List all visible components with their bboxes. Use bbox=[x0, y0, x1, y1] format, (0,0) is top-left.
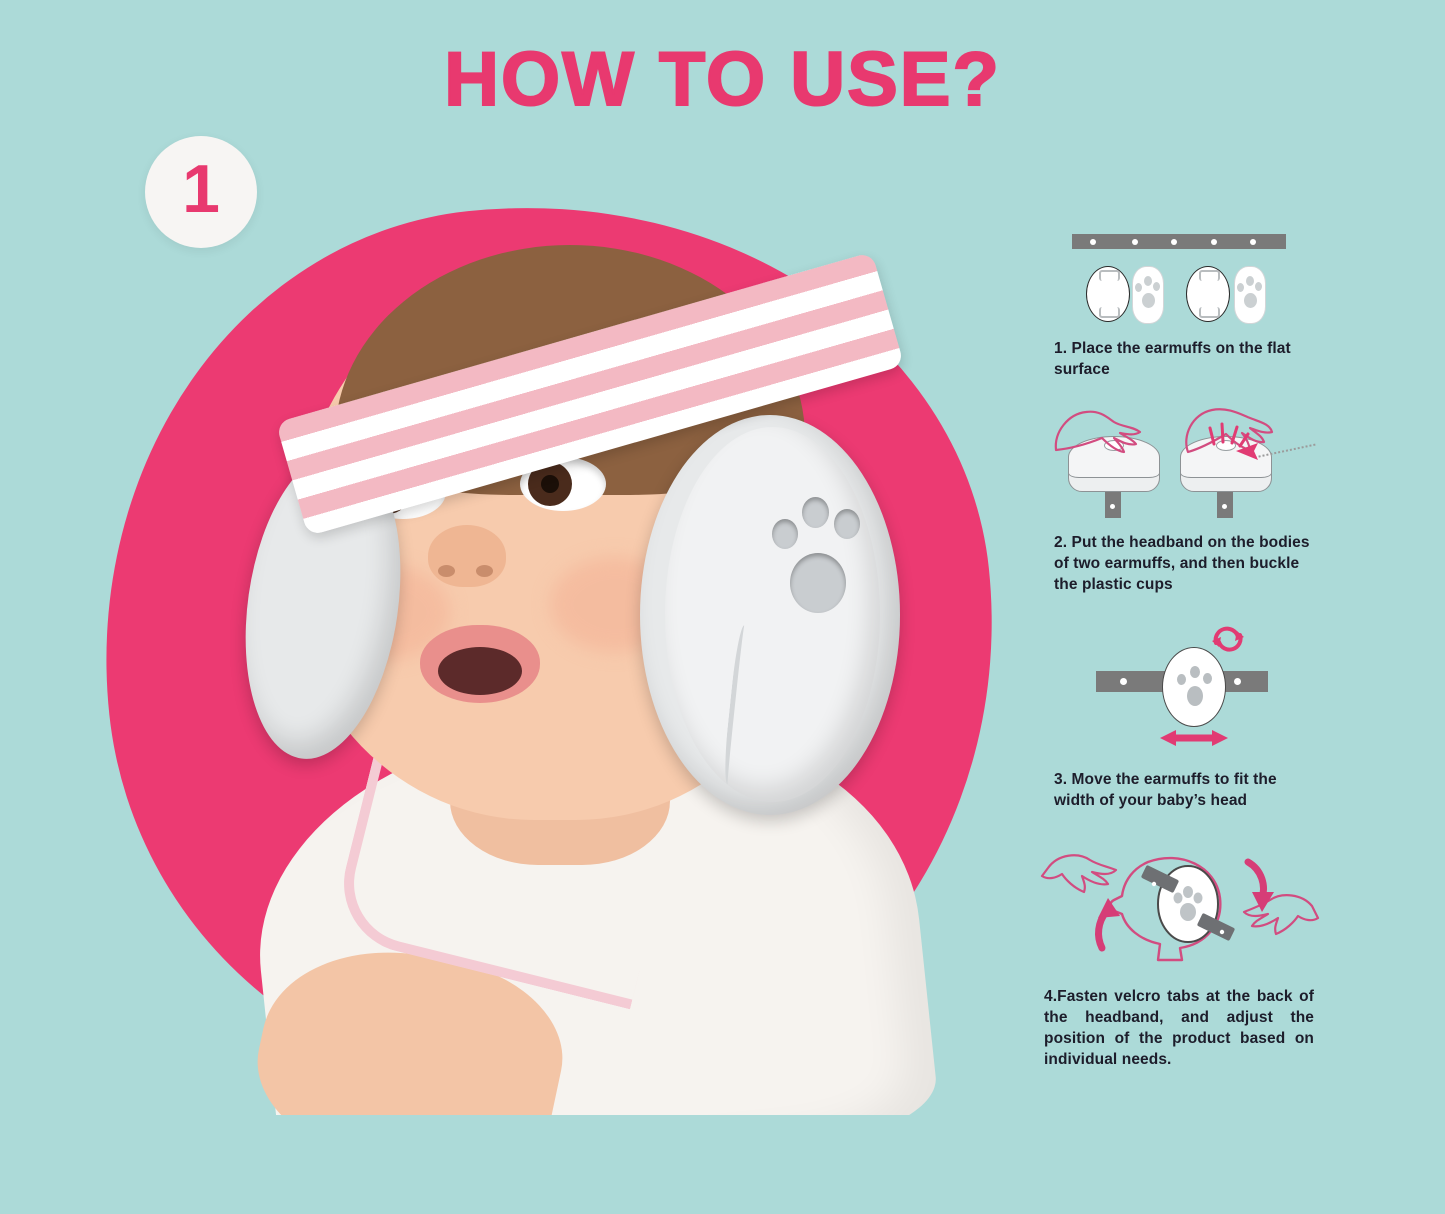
baby-photo bbox=[170, 165, 960, 1115]
baby-nose bbox=[428, 525, 506, 587]
hero-composition bbox=[60, 120, 1020, 1120]
baby-mouth-opening bbox=[438, 647, 522, 695]
step-4-text: 4.Fasten velcro tabs at the back of the … bbox=[1044, 986, 1314, 1070]
baby-mouth bbox=[420, 625, 540, 703]
paw-toe-3 bbox=[834, 509, 860, 539]
step-3-text: 3. Move the earmuffs to fit the width of… bbox=[1054, 769, 1316, 811]
step-4-illustration bbox=[1030, 840, 1330, 970]
instruction-step-4: 4.Fasten velcro tabs at the back of the … bbox=[1030, 840, 1330, 1070]
earmuff-body-2-icon bbox=[1234, 266, 1266, 324]
step-number-badge-label: 1 bbox=[182, 155, 220, 223]
hand-outline-left-icon bbox=[1052, 406, 1144, 458]
pointer-arrow-icon bbox=[1236, 442, 1262, 467]
paw-toe-1 bbox=[772, 519, 798, 549]
instruction-steps-list: 1. Place the earmuffs on the flat surfac… bbox=[1030, 226, 1330, 1070]
step-1-text: 1. Place the earmuffs on the flat surfac… bbox=[1054, 338, 1302, 380]
earmuff-body-1-icon bbox=[1132, 266, 1164, 324]
earmuff-cup-1-icon bbox=[1086, 266, 1130, 322]
rotate-arrows-icon bbox=[1208, 623, 1248, 660]
headband-bar-left-icon bbox=[1096, 671, 1168, 692]
step-2-text: 2. Put the headband on the bodies of two… bbox=[1054, 532, 1310, 595]
horizontal-double-arrow-icon bbox=[1160, 727, 1228, 754]
paw-pad-main bbox=[790, 553, 846, 613]
step-number-badge: 1 bbox=[145, 136, 257, 248]
paw-print-icon bbox=[770, 495, 870, 615]
fasten-velcro-head-diagram bbox=[1030, 840, 1330, 968]
page-title: HOW TO USE? bbox=[0, 42, 1445, 118]
instruction-step-2: 2. Put the headband on the bodies of two… bbox=[1030, 406, 1330, 595]
baby-nostril-right bbox=[476, 565, 493, 577]
baby-nostril-left bbox=[438, 565, 455, 577]
headband-rail-icon bbox=[1072, 234, 1286, 249]
step-2-illustration bbox=[1030, 406, 1330, 516]
baby-pupil-right bbox=[541, 475, 559, 493]
paw-toe-2 bbox=[802, 497, 829, 528]
instruction-step-3: 3. Move the earmuffs to fit the width of… bbox=[1030, 623, 1330, 811]
baby-illustration bbox=[170, 165, 960, 1115]
step-3-illustration bbox=[1030, 623, 1330, 743]
step-1-illustration bbox=[1030, 226, 1330, 326]
instruction-step-1: 1. Place the earmuffs on the flat surfac… bbox=[1030, 226, 1330, 380]
earmuff-cup-2-icon bbox=[1186, 266, 1230, 322]
